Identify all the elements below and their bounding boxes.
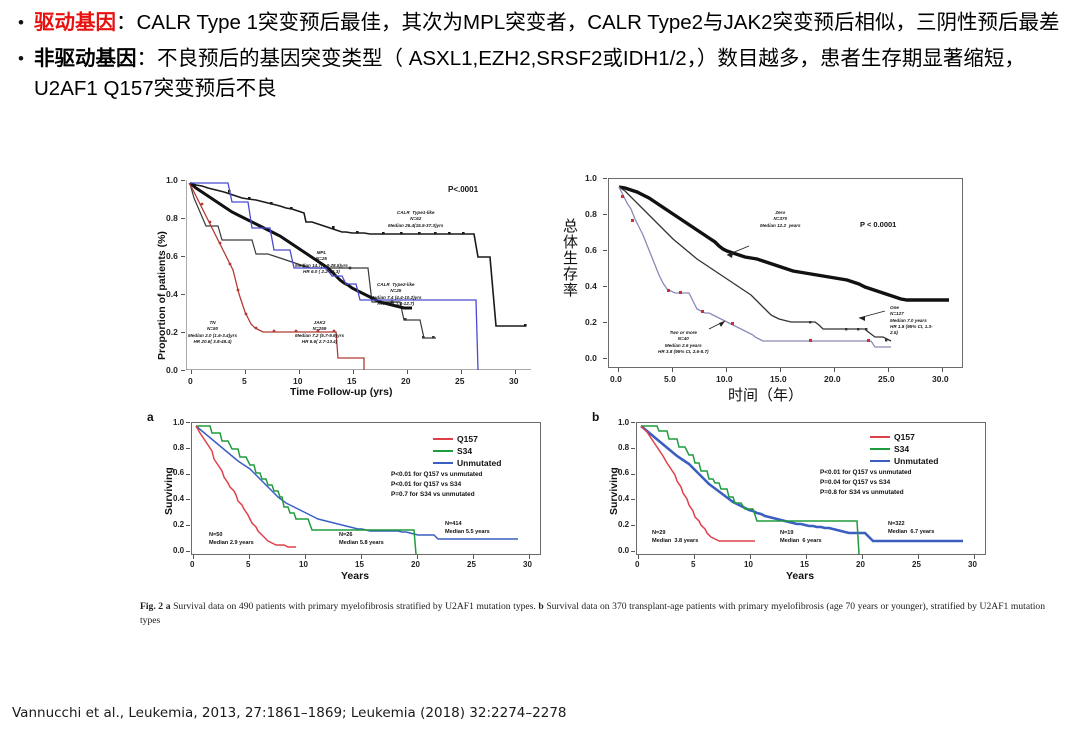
chart3-xtick-15: 15 (355, 560, 364, 569)
chart3-legend-item-unmutated: Unmutated (433, 458, 501, 468)
chart3-legend-swatch-q157 (433, 438, 453, 440)
chart4-nlabel-q157: N=29 Median 3.8 years (652, 529, 698, 546)
chart4-xtick-30: 30 (968, 560, 977, 569)
chart1-x-axis-title: Time Follow-up (yrs) (290, 386, 392, 398)
caption-fig-number: Fig. 2 (140, 601, 163, 612)
bullet-item-nondriver: • 非驱动基因：不良预后的基因突变类型（ ASXL1,EZH2,SRSF2或ID… (0, 44, 1080, 104)
chart1-ytick-0.2: 0.2 (166, 327, 178, 337)
chart2-xtick-20: 20.0 (824, 374, 841, 384)
chart1-xtick-20: 20 (401, 376, 410, 386)
bullet-lead-driver: 驱动基因 (34, 11, 116, 34)
chart4-nlabel-s34: N=19 Median 6 years (780, 529, 822, 546)
citation-line: Vannucchi et al., Leukemia, 2013, 27:186… (12, 705, 567, 721)
chart4-xtick-25: 25 (912, 560, 921, 569)
bullet-body-driver: ：CALR Type 1突变预后最佳，其次为MPL突变者，CALR Type2与… (116, 11, 1060, 34)
chart4-xtick-10: 10 (744, 560, 753, 569)
chart3-legend-item-q157: Q157 (433, 434, 501, 444)
chart4-legend-swatch-q157 (870, 436, 890, 438)
chart4-legend-label-s34: S34 (894, 444, 909, 454)
chart3-xtick-10: 10 (299, 560, 308, 569)
chart2-ytick-0.6: 0.6 (585, 245, 597, 255)
chart4-nlabel-unmutated: N=322 Median 6.7 years (888, 520, 934, 537)
chart1-xtick-5: 5 (242, 376, 247, 386)
chart2-annot-one: One N=127 Median 7.0 years HR 1.8 (95% C… (890, 305, 933, 337)
chart1-ytick-1.0: 1.0 (166, 175, 178, 185)
chart3-nlabel-s34: N=26 Median 5.8 years (339, 531, 384, 548)
chart3-x-axis-title: Years (341, 570, 369, 582)
chart3-panel-letter: a (147, 410, 154, 424)
chart4-ytick-0.8: 0.8 (618, 443, 629, 452)
chart4-ytick-0.2: 0.2 (618, 520, 629, 529)
chart1-annot-jak2: JAK2 N=259 Median 7.2 (5.7-9.6)yrs HR 6.… (295, 320, 344, 345)
caption-panel-b-tag: b (538, 601, 543, 612)
chart4-legend-swatch-s34 (870, 448, 890, 450)
chart1-ytick-0.6: 0.6 (166, 251, 178, 261)
chart3-xtick-0: 0 (190, 560, 194, 569)
chart4-legend-item-q157: Q157 (870, 432, 938, 442)
chart1-xtick-0: 0 (188, 376, 193, 386)
chart1-xtick-30: 30 (509, 376, 518, 386)
bullet-body-nondriver: ：不良预后的基因突变类型（ ASXL1,EZH2,SRSF2或IDH1/2，）数… (34, 47, 1025, 100)
bullet-item-driver: • 驱动基因：CALR Type 1突变预后最佳，其次为MPL突变者，CALR … (0, 8, 1080, 38)
chart2-annot-zero: Zero N=370 Median 12.2 years (760, 210, 801, 229)
chart3-legend: Q157 S34 Unmutated (433, 434, 501, 470)
caption-panel-a-tag: a (166, 601, 171, 612)
chart2-ytick-1.0: 1.0 (585, 173, 597, 183)
chart3-xtick-20: 20 (411, 560, 420, 569)
chart1-annot-tn: TN N=50 Median 2.0 (1.6-3.4)yrs HR 20.6(… (188, 320, 237, 345)
bullet-marker-2: • (0, 44, 34, 74)
chart3-legend-label-unmutated: Unmutated (457, 458, 501, 468)
chart3-ytick-1.0: 1.0 (173, 418, 184, 427)
chart3-xtick-25: 25 (467, 560, 476, 569)
chart3-ytick-0.0: 0.0 (173, 546, 184, 555)
chart1-ytick-0.0: 0.0 (166, 365, 178, 375)
chart4-ytick-1.0: 1.0 (618, 418, 629, 427)
chart3-legend-item-s34: S34 (433, 446, 501, 456)
chart2-xtick-0: 0.0 (610, 374, 622, 384)
chart4-ytick-0.6: 0.6 (618, 468, 629, 477)
chart4-xtick-20: 20 (856, 560, 865, 569)
figure-caption: Fig. 2 a Survival data on 490 patients w… (140, 600, 1045, 627)
chart3-xtick-5: 5 (246, 560, 250, 569)
chart1-ytick-0.4: 0.4 (166, 289, 178, 299)
chart4-stats: P<0.01 for Q157 vs unmutated P=0.04 for … (820, 468, 911, 498)
chart2-ytick-0.0: 0.0 (585, 353, 597, 363)
chart3-legend-label-q157: Q157 (457, 434, 478, 444)
chart3-legend-label-s34: S34 (457, 446, 472, 456)
bullet-text-1: 驱动基因：CALR Type 1突变预后最佳，其次为MPL突变者，CALR Ty… (34, 8, 1080, 38)
chart-u2af1-survival-490: a Surviving Q157 S34 (145, 410, 565, 590)
chart3-ytick-0.8: 0.8 (173, 443, 184, 452)
chart-driver-mutation-survival: Proportion of patients (%) (130, 170, 550, 400)
figure-area: Proportion of patients (%) (0, 168, 1080, 648)
chart3-nlabel-q157: N=50 Median 2.9 years (209, 531, 254, 548)
chart4-x-axis-title: Years (786, 570, 814, 582)
chart-u2af1-survival-370: b Surviving Q157 S34 (590, 410, 1010, 590)
chart-number-of-mutations-survival: 总体生存率 (560, 170, 1000, 415)
chart2-x-axis-title: 时间（年） (728, 384, 803, 405)
bullet-marker-1: • (0, 8, 34, 38)
chart2-pvalue: P < 0.0001 (860, 220, 896, 229)
chart4-legend-label-unmutated: Unmutated (894, 456, 938, 466)
chart4-legend-item-unmutated: Unmutated (870, 456, 938, 466)
chart3-ytick-0.4: 0.4 (173, 494, 184, 503)
bullet-lead-nondriver: 非驱动基因 (34, 47, 137, 70)
chart4-xtick-15: 15 (800, 560, 809, 569)
chart2-ytick-0.4: 0.4 (585, 281, 597, 291)
chart3-nlabel-unmutated: N=414 Median 5.5 years (445, 520, 490, 537)
chart1-xtick-10: 10 (293, 376, 302, 386)
chart4-xtick-5: 5 (691, 560, 695, 569)
chart1-xtick-25: 25 (455, 376, 464, 386)
chart3-stats: P<0.01 for Q157 vs unmutated P<0.01 for … (391, 470, 482, 500)
chart2-xtick-30: 30.0 (932, 374, 949, 384)
chart2-xtick-25: 25.0 (878, 374, 895, 384)
chart4-panel-letter: b (592, 410, 599, 424)
chart2-xtick-5: 5.0 (664, 374, 676, 384)
bullet-text-2: 非驱动基因：不良预后的基因突变类型（ ASXL1,EZH2,SRSF2或IDH1… (34, 44, 1080, 104)
bullet-list: • 驱动基因：CALR Type 1突变预后最佳，其次为MPL突变者，CALR … (0, 8, 1080, 110)
chart1-pvalue: P<.0001 (448, 185, 478, 194)
chart4-legend: Q157 S34 Unmutated (870, 432, 938, 468)
chart3-legend-swatch-unmutated (433, 462, 453, 464)
chart1-curves (186, 180, 531, 370)
chart1-xtick-15: 15 (347, 376, 356, 386)
chart2-annot-two-or-more: Two or more N=40 Median 2.6 years HR 3.8… (658, 330, 709, 355)
chart1-annot-calr-type1: CALR Type1-like N=62 Median 26.4(15.5-37… (388, 210, 443, 229)
caption-panel-a-text: Survival data on 490 patients with prima… (173, 601, 536, 612)
chart4-legend-item-s34: S34 (870, 444, 938, 454)
chart2-ytick-0.8: 0.8 (585, 209, 597, 219)
chart3-legend-swatch-s34 (433, 450, 453, 452)
chart4-xtick-0: 0 (635, 560, 639, 569)
chart4-ytick-0.4: 0.4 (618, 494, 629, 503)
chart2-xtick-10: 10.0 (716, 374, 733, 384)
chart1-annot-calr-type2: CALR Type2-like N=25 Median 7.4 (4.4-10.… (370, 282, 422, 307)
chart4-ytick-0.0: 0.0 (618, 546, 629, 555)
chart3-ytick-0.2: 0.2 (173, 520, 184, 529)
chart4-legend-swatch-unmutated (870, 460, 890, 462)
chart2-xtick-15: 15.0 (770, 374, 787, 384)
chart1-plot-area (186, 180, 531, 370)
chart3-ytick-0.6: 0.6 (173, 468, 184, 477)
chart2-y-axis-title: 总体生存率 (560, 218, 581, 298)
chart1-ytick-0.8: 0.8 (166, 213, 178, 223)
chart2-ytick-0.2: 0.2 (585, 317, 597, 327)
chart1-annot-mpl: MPL N=25 Median 14.7(9.3-28.5)yrs HR 6.0… (295, 250, 348, 275)
chart4-legend-label-q157: Q157 (894, 432, 915, 442)
chart3-xtick-30: 30 (523, 560, 532, 569)
